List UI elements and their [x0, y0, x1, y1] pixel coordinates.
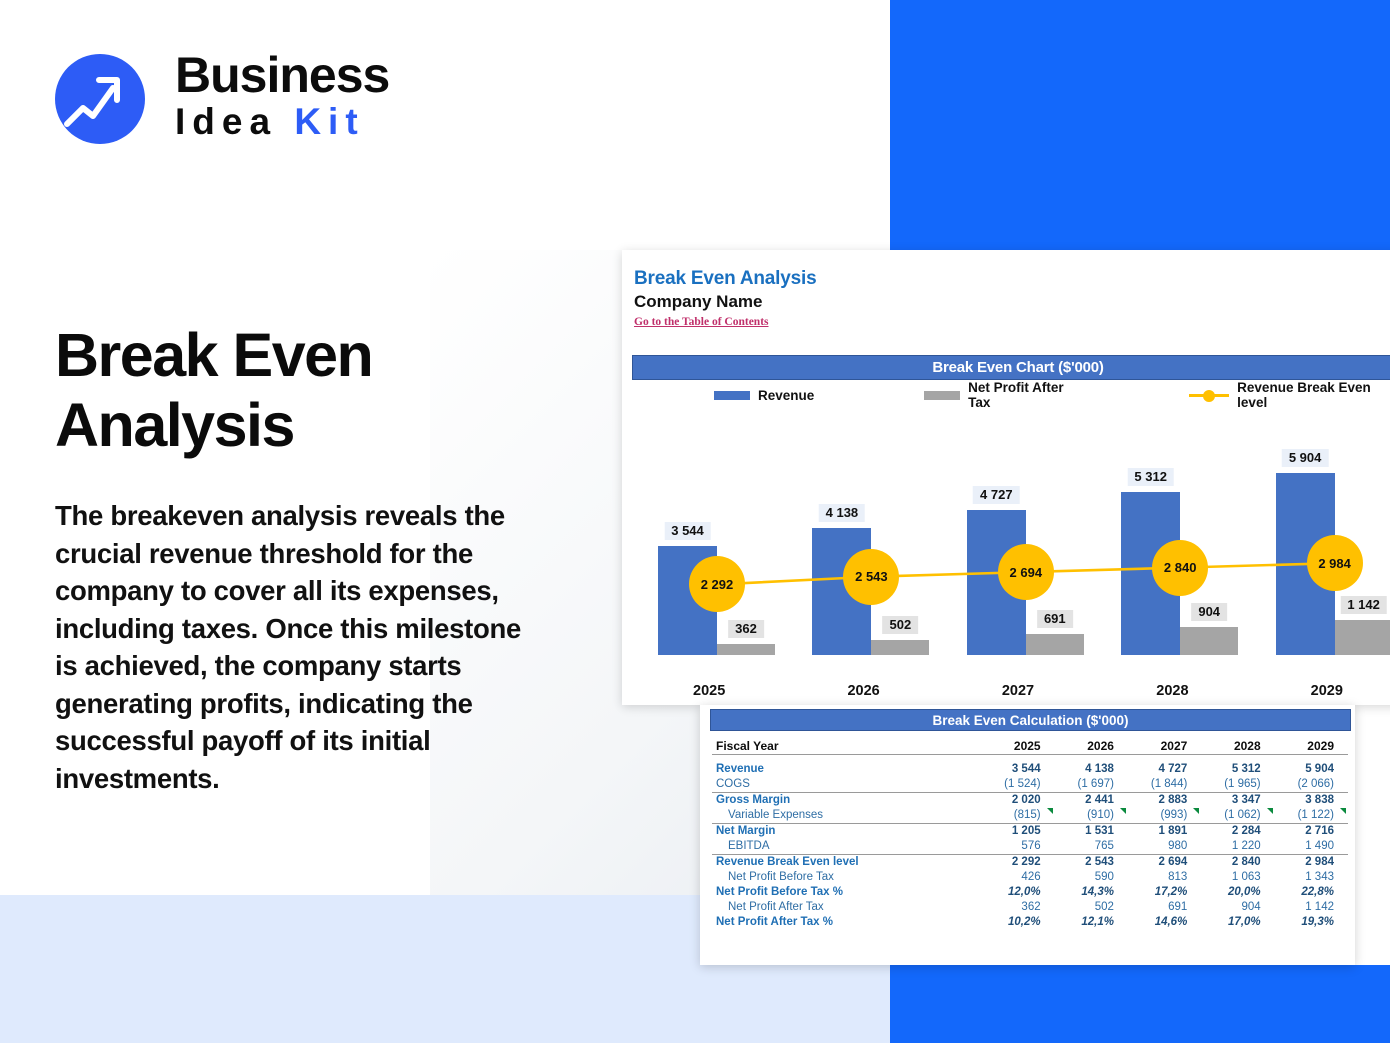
chart-banner-title: Break Even Chart ($'000) [632, 355, 1390, 380]
cell-1-2: (1 844) [1128, 777, 1201, 793]
cell-4-2: 1 891 [1128, 823, 1201, 839]
cell-0-1: 4 138 [1055, 762, 1128, 777]
table-header-year-2027: 2027 [1128, 737, 1201, 755]
legend-swatch-line-marker-icon [1189, 391, 1229, 400]
row-label-2: Gross Margin [712, 792, 981, 808]
break-even-marker-2027: 2 694 [998, 544, 1054, 600]
cell-3-2: (993) [1128, 808, 1201, 824]
brand-name-text: Business [175, 47, 389, 103]
growth-arrow-icon [55, 54, 145, 144]
legend-label-revenue: Revenue [758, 388, 814, 403]
cell-10-1: 12,1% [1055, 915, 1128, 930]
row-label-3: Variable Expenses [712, 808, 981, 824]
cell-7-2: 813 [1128, 870, 1201, 885]
cell-4-3: 2 284 [1201, 823, 1274, 839]
table-row: Revenue3 5444 1384 7275 3125 904 [712, 762, 1348, 777]
cell-9-3: 904 [1201, 900, 1274, 915]
table-header-year-2026: 2026 [1055, 737, 1128, 755]
cell-9-4: 1 142 [1275, 900, 1348, 915]
brand-name-line1: Business [175, 48, 389, 102]
cell-0-0: 3 544 [981, 762, 1054, 777]
table-row: EBITDA5767659801 2201 490 [712, 839, 1348, 855]
cell-6-0: 2 292 [981, 854, 1054, 870]
legend-item-break-even-level: Revenue Break Even level [1189, 380, 1390, 410]
cell-6-1: 2 543 [1055, 854, 1128, 870]
brand-name-line2: Idea Kit [175, 102, 389, 142]
table-header-year-2029: 2029 [1275, 737, 1348, 755]
break-even-marker-2029: 2 984 [1307, 535, 1363, 591]
table-row: Net Margin1 2051 5311 8912 2842 716 [712, 823, 1348, 839]
row-label-10: Net Profit After Tax % [712, 915, 981, 930]
break-even-marker-2026: 2 543 [843, 549, 899, 605]
cell-1-1: (1 697) [1055, 777, 1128, 793]
row-label-6: Revenue Break Even level [712, 854, 981, 870]
cell-0-3: 5 312 [1201, 762, 1274, 777]
table-row: COGS(1 524)(1 697)(1 844)(1 965)(2 066) [712, 777, 1348, 793]
cell-7-0: 426 [981, 870, 1054, 885]
calculation-table-panel: Break Even Calculation ($'000) Fiscal Ye… [700, 705, 1355, 965]
cell-2-0: 2 020 [981, 792, 1054, 808]
legend-label-npat: Net Profit After Tax [968, 380, 1089, 410]
cell-10-2: 14,6% [1128, 915, 1201, 930]
cell-3-4: (1 122) [1275, 808, 1348, 824]
cell-5-1: 765 [1055, 839, 1128, 855]
cell-8-3: 20,0% [1201, 885, 1274, 900]
cell-10-0: 10,2% [981, 915, 1054, 930]
row-label-8: Net Profit Before Tax % [712, 885, 981, 900]
page-title: Break Even Analysis [55, 320, 525, 460]
cell-5-2: 980 [1128, 839, 1201, 855]
break-even-marker-2028: 2 840 [1152, 540, 1208, 596]
cell-5-4: 1 490 [1275, 839, 1348, 855]
cell-2-1: 2 441 [1055, 792, 1128, 808]
cell-10-4: 19,3% [1275, 915, 1348, 930]
cell-2-4: 3 838 [1275, 792, 1348, 808]
cell-1-4: (2 066) [1275, 777, 1348, 793]
cell-9-0: 362 [981, 900, 1054, 915]
cell-2-3: 3 347 [1201, 792, 1274, 808]
cell-10-3: 17,0% [1201, 915, 1274, 930]
cell-1-0: (1 524) [981, 777, 1054, 793]
cell-1-3: (1 965) [1201, 777, 1274, 793]
cell-9-1: 502 [1055, 900, 1128, 915]
cell-3-0: (815) [981, 808, 1054, 824]
row-label-9: Net Profit After Tax [712, 900, 981, 915]
page-description: The breakeven analysis reveals the cruci… [55, 497, 540, 797]
break-even-calculation-table: Fiscal Year20252026202720282029 Revenue3… [712, 737, 1348, 930]
table-header-fiscal-year: Fiscal Year [712, 737, 981, 755]
cell-6-4: 2 984 [1275, 854, 1348, 870]
table-spacer [712, 755, 1348, 762]
chart-panel: Break Even Analysis Company Name Go to t… [622, 250, 1390, 705]
cell-0-4: 5 904 [1275, 762, 1348, 777]
brand-kit-text: Kit [294, 101, 364, 142]
cell-6-3: 2 840 [1201, 854, 1274, 870]
cell-4-4: 2 716 [1275, 823, 1348, 839]
table-row: Net Profit After Tax3625026919041 142 [712, 900, 1348, 915]
legend-item-net-profit-after-tax: Net Profit After Tax [924, 380, 1089, 410]
table-of-contents-link[interactable]: Go to the Table of Contents [634, 316, 769, 328]
row-label-1: COGS [712, 777, 981, 793]
cell-4-1: 1 531 [1055, 823, 1128, 839]
cell-9-2: 691 [1128, 900, 1201, 915]
legend-item-revenue: Revenue [714, 388, 814, 403]
row-label-5: EBITDA [712, 839, 981, 855]
table-row: Net Profit Before Tax4265908131 0631 343 [712, 870, 1348, 885]
cell-4-0: 1 205 [981, 823, 1054, 839]
row-label-4: Net Margin [712, 823, 981, 839]
cell-8-0: 12,0% [981, 885, 1054, 900]
cell-7-3: 1 063 [1201, 870, 1274, 885]
legend-label-break-even: Revenue Break Even level [1237, 380, 1390, 410]
row-label-7: Net Profit Before Tax [712, 870, 981, 885]
table-row: Net Profit After Tax %10,2%12,1%14,6%17,… [712, 915, 1348, 930]
table-header-year-2028: 2028 [1201, 737, 1274, 755]
cell-6-2: 2 694 [1128, 854, 1201, 870]
cell-8-1: 14,3% [1055, 885, 1128, 900]
table-banner-title: Break Even Calculation ($'000) [710, 709, 1351, 731]
cell-2-2: 2 883 [1128, 792, 1201, 808]
legend-swatch-revenue-icon [714, 391, 750, 400]
cell-3-1: (910) [1055, 808, 1128, 824]
row-label-0: Revenue [712, 762, 981, 777]
background-block-bottom-right [890, 965, 1390, 1043]
poster-page: Business Idea Kit Break Even Analysis Th… [0, 0, 1390, 1043]
break-even-marker-2025: 2 292 [689, 556, 745, 612]
background-block-top-right [890, 0, 1390, 250]
chart-legend: Revenue Net Profit After Tax Revenue Bre… [632, 383, 1390, 407]
table-row: Gross Margin2 0202 4412 8833 3473 838 [712, 792, 1348, 808]
sheet-title: Break Even Analysis [634, 268, 816, 290]
chart-plot-area: 3 54436220254 13850220264 72769120275 31… [632, 415, 1390, 705]
brand-idea-text: Idea [175, 101, 294, 142]
cell-7-4: 1 343 [1275, 870, 1348, 885]
table-header-row: Fiscal Year20252026202720282029 [712, 737, 1348, 755]
cell-8-2: 17,2% [1128, 885, 1201, 900]
legend-swatch-npat-icon [924, 391, 960, 400]
table-header-year-2025: 2025 [981, 737, 1054, 755]
cell-3-3: (1 062) [1201, 808, 1274, 824]
table-row: Variable Expenses(815)(910)(993)(1 062)(… [712, 808, 1348, 824]
sheet-company-name: Company Name [634, 292, 762, 312]
cell-7-1: 590 [1055, 870, 1128, 885]
brand-logo: Business Idea Kit [55, 52, 455, 152]
table-row: Net Profit Before Tax %12,0%14,3%17,2%20… [712, 885, 1348, 900]
cell-0-2: 4 727 [1128, 762, 1201, 777]
cell-5-0: 576 [981, 839, 1054, 855]
table-row: Revenue Break Even level2 2922 5432 6942… [712, 854, 1348, 870]
cell-5-3: 1 220 [1201, 839, 1274, 855]
cell-8-4: 22,8% [1275, 885, 1348, 900]
